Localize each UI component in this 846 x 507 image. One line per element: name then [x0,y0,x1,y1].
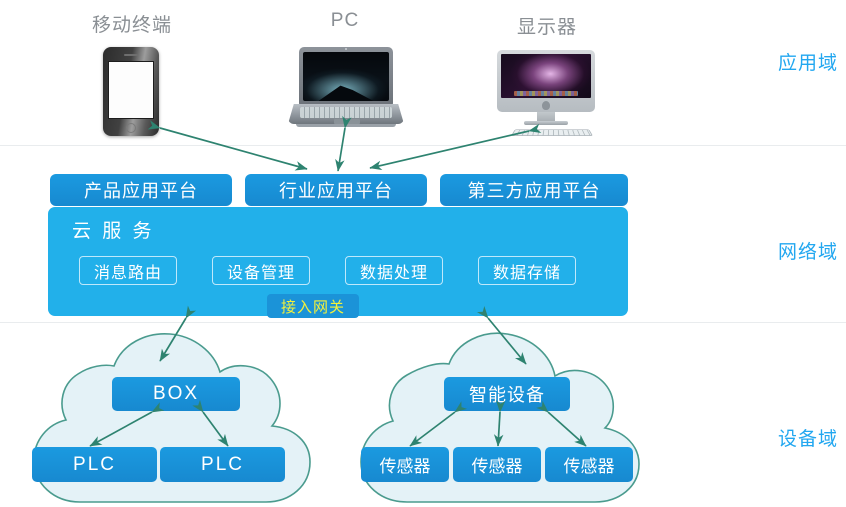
domain-divider-network-device [0,322,846,323]
device-box-plc-1[interactable]: PLC [32,447,157,482]
cloud-service-panel: 云 服 务 消息路由 设备管理 数据处理 数据存储 接入网关 [48,207,628,316]
service-chip-message-routing[interactable]: 消息路由 [79,256,177,285]
device-caption-display: 显示器 [492,12,602,39]
keyboard-icon [511,129,593,136]
arrow-mobile-to-product-platform [160,128,307,169]
device-box-sensor-3[interactable]: 传感器 [545,447,633,482]
access-gateway-badge[interactable]: 接入网关 [267,294,359,318]
smartphone-home-button [126,123,136,133]
smartphone-speaker [124,54,138,56]
device-caption-pc: PC [290,10,400,32]
domain-divider-application-network [0,145,846,146]
device-box-sensor-1[interactable]: 传感器 [361,447,449,482]
domain-label-device: 设备域 [778,424,838,451]
monitor-stand-foot [524,121,568,125]
service-chip-data-processing[interactable]: 数据处理 [345,256,443,285]
laptop-screen [303,52,389,101]
device-caption-mobile: 移动终端 [72,10,192,37]
laptop-lid [299,47,393,105]
domain-label-application: 应用域 [778,48,838,75]
arrow-display-to-thirdparty-platform [370,131,529,168]
service-chip-device-management[interactable]: 设备管理 [212,256,310,285]
arrow-pc-to-industry-platform [338,128,345,171]
device-box-sensor-2[interactable]: 传感器 [453,447,541,482]
device-box-smart-device[interactable]: 智能设备 [444,377,570,411]
device-box-box[interactable]: BOX [112,377,240,411]
diagram-canvas: 应用域 网络域 设备域 移动终端 PC 显示器 产品应用平台 行业应用平台 第三 [0,0,846,507]
device-box-plc-2[interactable]: PLC [160,447,285,482]
domain-label-network: 网络域 [778,237,838,264]
platform-button-industry[interactable]: 行业应用平台 [245,174,427,206]
service-chip-data-storage[interactable]: 数据存储 [478,256,576,285]
monitor-logo [542,101,550,110]
smartphone-icon [103,47,159,136]
desktop-monitor-icon [497,50,595,136]
laptop-webcam [345,48,347,50]
laptop-keyboard [300,107,392,118]
monitor-dock [514,91,579,96]
cloud-service-title: 云 服 务 [72,216,155,243]
laptop-icon [288,47,404,129]
smartphone-screen [108,61,154,119]
laptop-foot [296,124,396,127]
platform-button-product[interactable]: 产品应用平台 [50,174,232,206]
monitor-screen [501,54,591,98]
platform-button-thirdparty[interactable]: 第三方应用平台 [440,174,628,206]
